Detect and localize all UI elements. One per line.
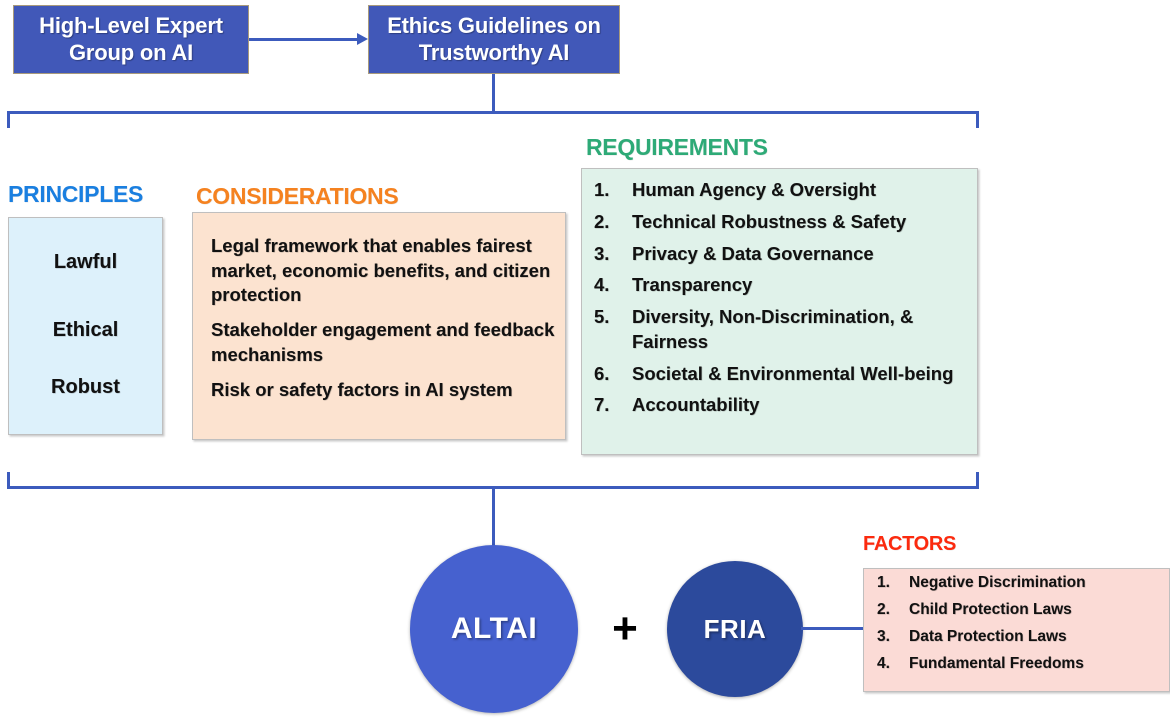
connector-ethics-to-top-bracket xyxy=(492,74,495,113)
top-bracket-right-tick xyxy=(976,111,979,128)
factors-list: 1. Negative Discrimination 2. Child Prot… xyxy=(877,573,1167,682)
list-item-label: Human Agency & Oversight xyxy=(632,178,966,203)
arrow-hleg-to-ethics-head xyxy=(357,33,368,45)
top-bracket-left-tick xyxy=(7,111,10,128)
principle-item-lawful: Lawful xyxy=(9,251,162,274)
list-item: 3. Privacy & Data Governance xyxy=(594,242,966,267)
list-item: 5. Diversity, Non-Discrimination, & Fair… xyxy=(594,305,966,355)
plus-icon: + xyxy=(602,604,648,654)
list-item-label: Child Protection Laws xyxy=(909,600,1167,620)
list-item: 6. Societal & Environmental Well-being xyxy=(594,362,966,387)
list-item-label: Fundamental Freedoms xyxy=(909,654,1167,674)
node-altai[interactable]: ALTAI xyxy=(410,545,578,713)
plus-symbol: + xyxy=(612,607,638,651)
node-altai-label: ALTAI xyxy=(451,612,537,646)
list-item-number: 4. xyxy=(594,273,632,298)
list-item: 3. Data Protection Laws xyxy=(877,627,1167,647)
connector-fria-to-factors xyxy=(801,627,863,630)
list-item-number: 7. xyxy=(594,393,632,418)
list-item-number: 2. xyxy=(877,600,909,620)
principles-panel: Lawful Ethical Robust xyxy=(8,217,163,435)
list-item: 7. Accountability xyxy=(594,393,966,418)
list-item: 1. Human Agency & Oversight xyxy=(594,178,966,203)
factors-heading: FACTORS xyxy=(863,533,956,556)
list-item-number: 3. xyxy=(594,242,632,267)
principle-item-ethical: Ethical xyxy=(9,319,162,342)
consideration-item-risk-safety: Risk or safety factors in AI system xyxy=(211,378,555,403)
list-item-label: Accountability xyxy=(632,393,966,418)
diagram-canvas: High-Level Expert Group on AI Ethics Gui… xyxy=(0,0,1170,721)
list-item-number: 4. xyxy=(877,654,909,674)
node-ethics-guidelines[interactable]: Ethics Guidelines on Trustworthy AI xyxy=(368,5,620,74)
list-item-number: 2. xyxy=(594,210,632,235)
node-high-level-expert-group[interactable]: High-Level Expert Group on AI xyxy=(13,5,249,74)
node-fria[interactable]: FRIA xyxy=(667,561,803,697)
list-item-number: 3. xyxy=(877,627,909,647)
top-bracket-horizontal xyxy=(7,111,979,114)
list-item-number: 1. xyxy=(594,178,632,203)
arrow-hleg-to-ethics-shaft xyxy=(249,38,357,41)
list-item-label: Data Protection Laws xyxy=(909,627,1167,647)
list-item-label: Transparency xyxy=(632,273,966,298)
node-ethics-guidelines-label: Ethics Guidelines on Trustworthy AI xyxy=(375,13,613,67)
list-item-label: Negative Discrimination xyxy=(909,573,1167,593)
list-item-label: Technical Robustness & Safety xyxy=(632,210,966,235)
considerations-panel: Legal framework that enables fairest mar… xyxy=(192,212,566,440)
list-item-number: 5. xyxy=(594,305,632,330)
list-item: 2. Technical Robustness & Safety xyxy=(594,210,966,235)
list-item: 1. Negative Discrimination xyxy=(877,573,1167,593)
consideration-item-legal-framework: Legal framework that enables fairest mar… xyxy=(211,234,555,308)
list-item: 4. Fundamental Freedoms xyxy=(877,654,1167,674)
principle-item-robust: Robust xyxy=(9,376,162,399)
list-item-label: Societal & Environmental Well-being xyxy=(632,362,966,387)
connector-bracket-to-altai xyxy=(492,486,495,551)
consideration-item-stakeholder-engagement: Stakeholder engagement and feedback mech… xyxy=(211,318,555,367)
requirements-list: 1. Human Agency & Oversight 2. Technical… xyxy=(594,178,966,425)
considerations-heading: CONSIDERATIONS xyxy=(196,183,398,210)
node-fria-label: FRIA xyxy=(704,614,767,645)
list-item: 2. Child Protection Laws xyxy=(877,600,1167,620)
list-item-number: 1. xyxy=(877,573,909,593)
list-item-label: Diversity, Non-Discrimination, & Fairnes… xyxy=(632,305,966,355)
list-item: 4. Transparency xyxy=(594,273,966,298)
node-high-level-expert-group-label: High-Level Expert Group on AI xyxy=(20,13,242,67)
list-item-number: 6. xyxy=(594,362,632,387)
requirements-heading: REQUIREMENTS xyxy=(586,134,768,161)
list-item-label: Privacy & Data Governance xyxy=(632,242,966,267)
principles-heading: PRINCIPLES xyxy=(8,181,143,208)
